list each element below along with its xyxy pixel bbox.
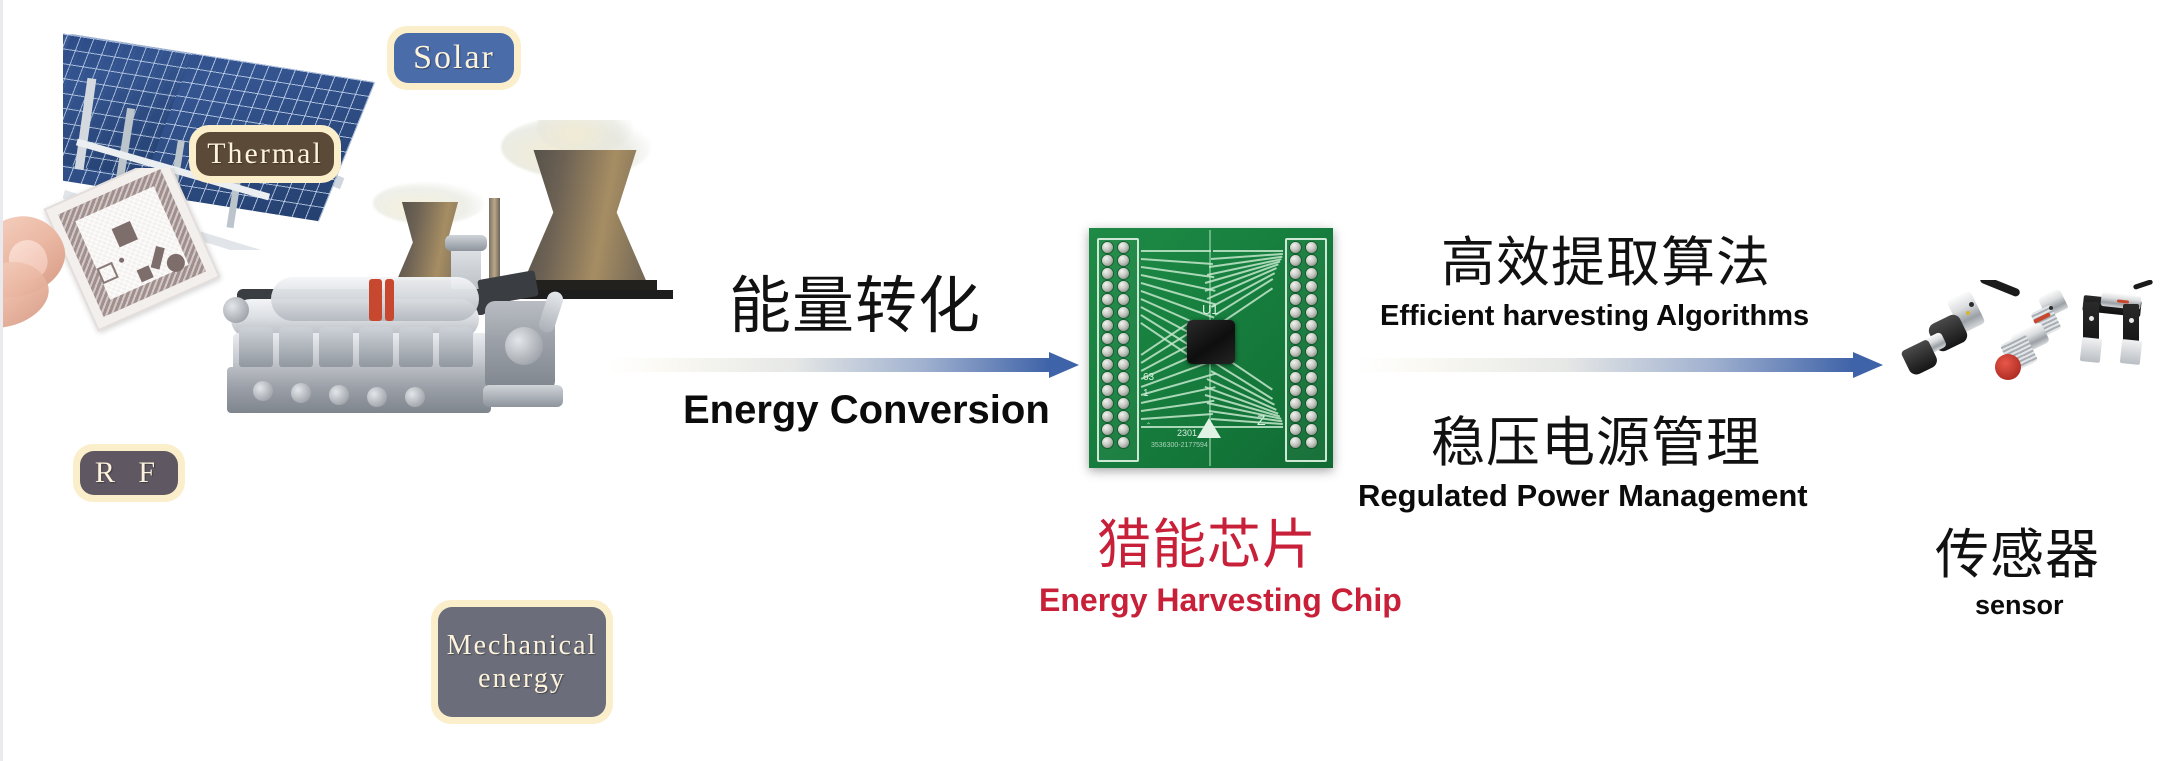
- pcb-corner-marker-right-z: Z: [1257, 412, 1266, 428]
- rf-label-text: R F: [95, 455, 163, 490]
- rfid-tag-image: [3, 168, 243, 368]
- industrial-sensors-image: [1883, 280, 2161, 400]
- pcb-pin-63-label: 63: [1143, 372, 1154, 383]
- energy-harvesting-chip-image: U1 63 1 2301 3536300-2177594 ‸ Z: [1089, 228, 1333, 468]
- energy-conversion-cn: 能量转化: [729, 255, 981, 345]
- pcb-silkscreen-2301: 2301: [1177, 428, 1197, 438]
- pcb-part-number: 3536300-2177594: [1151, 442, 1208, 449]
- conversion-arrow-head: [1049, 352, 1079, 378]
- pcb-pin-1-label: 1: [1143, 388, 1149, 399]
- chip-caption-cn: 猎能芯片: [1097, 500, 1317, 579]
- pcb-die-label: U1: [1202, 302, 1219, 317]
- algorithms-en: Efficient harvesting Algorithms: [1380, 300, 1809, 333]
- chip-caption-en: Energy Harvesting Chip: [1039, 582, 1402, 619]
- mechanical-label-line1: Mechanical: [447, 629, 598, 662]
- algorithms-cn: 高效提取算法: [1441, 218, 1771, 297]
- engine-image: [213, 235, 633, 435]
- output-arrow-head: [1853, 352, 1883, 378]
- output-arrow: [1355, 352, 1883, 378]
- rf-label: R F: [80, 451, 178, 495]
- thermal-label-text: Thermal: [207, 136, 323, 171]
- pcb-orientation-triangle-icon: [1197, 418, 1221, 438]
- pcb-corner-marker-left: ‸: [1147, 414, 1150, 425]
- energy-conversion-en: Energy Conversion: [683, 388, 1050, 433]
- sensor-caption-cn: 传感器: [1935, 510, 2100, 589]
- solar-label: Solar: [394, 33, 514, 83]
- power-management-cn: 稳压电源管理: [1431, 398, 1761, 477]
- pcb-die: [1187, 320, 1235, 364]
- sensor-caption-en: sensor: [1975, 590, 2064, 621]
- mechanical-label: Mechanical energy: [438, 607, 606, 717]
- solar-label-text: Solar: [413, 38, 495, 78]
- slide-canvas: Solar Thermal R F: [0, 0, 2161, 761]
- output-arrow-shaft: [1355, 358, 1853, 372]
- mechanical-label-line2: energy: [478, 662, 566, 695]
- conversion-arrow-shaft: [607, 358, 1049, 372]
- power-management-en: Regulated Power Management: [1358, 478, 1808, 514]
- conversion-arrow: [607, 352, 1079, 378]
